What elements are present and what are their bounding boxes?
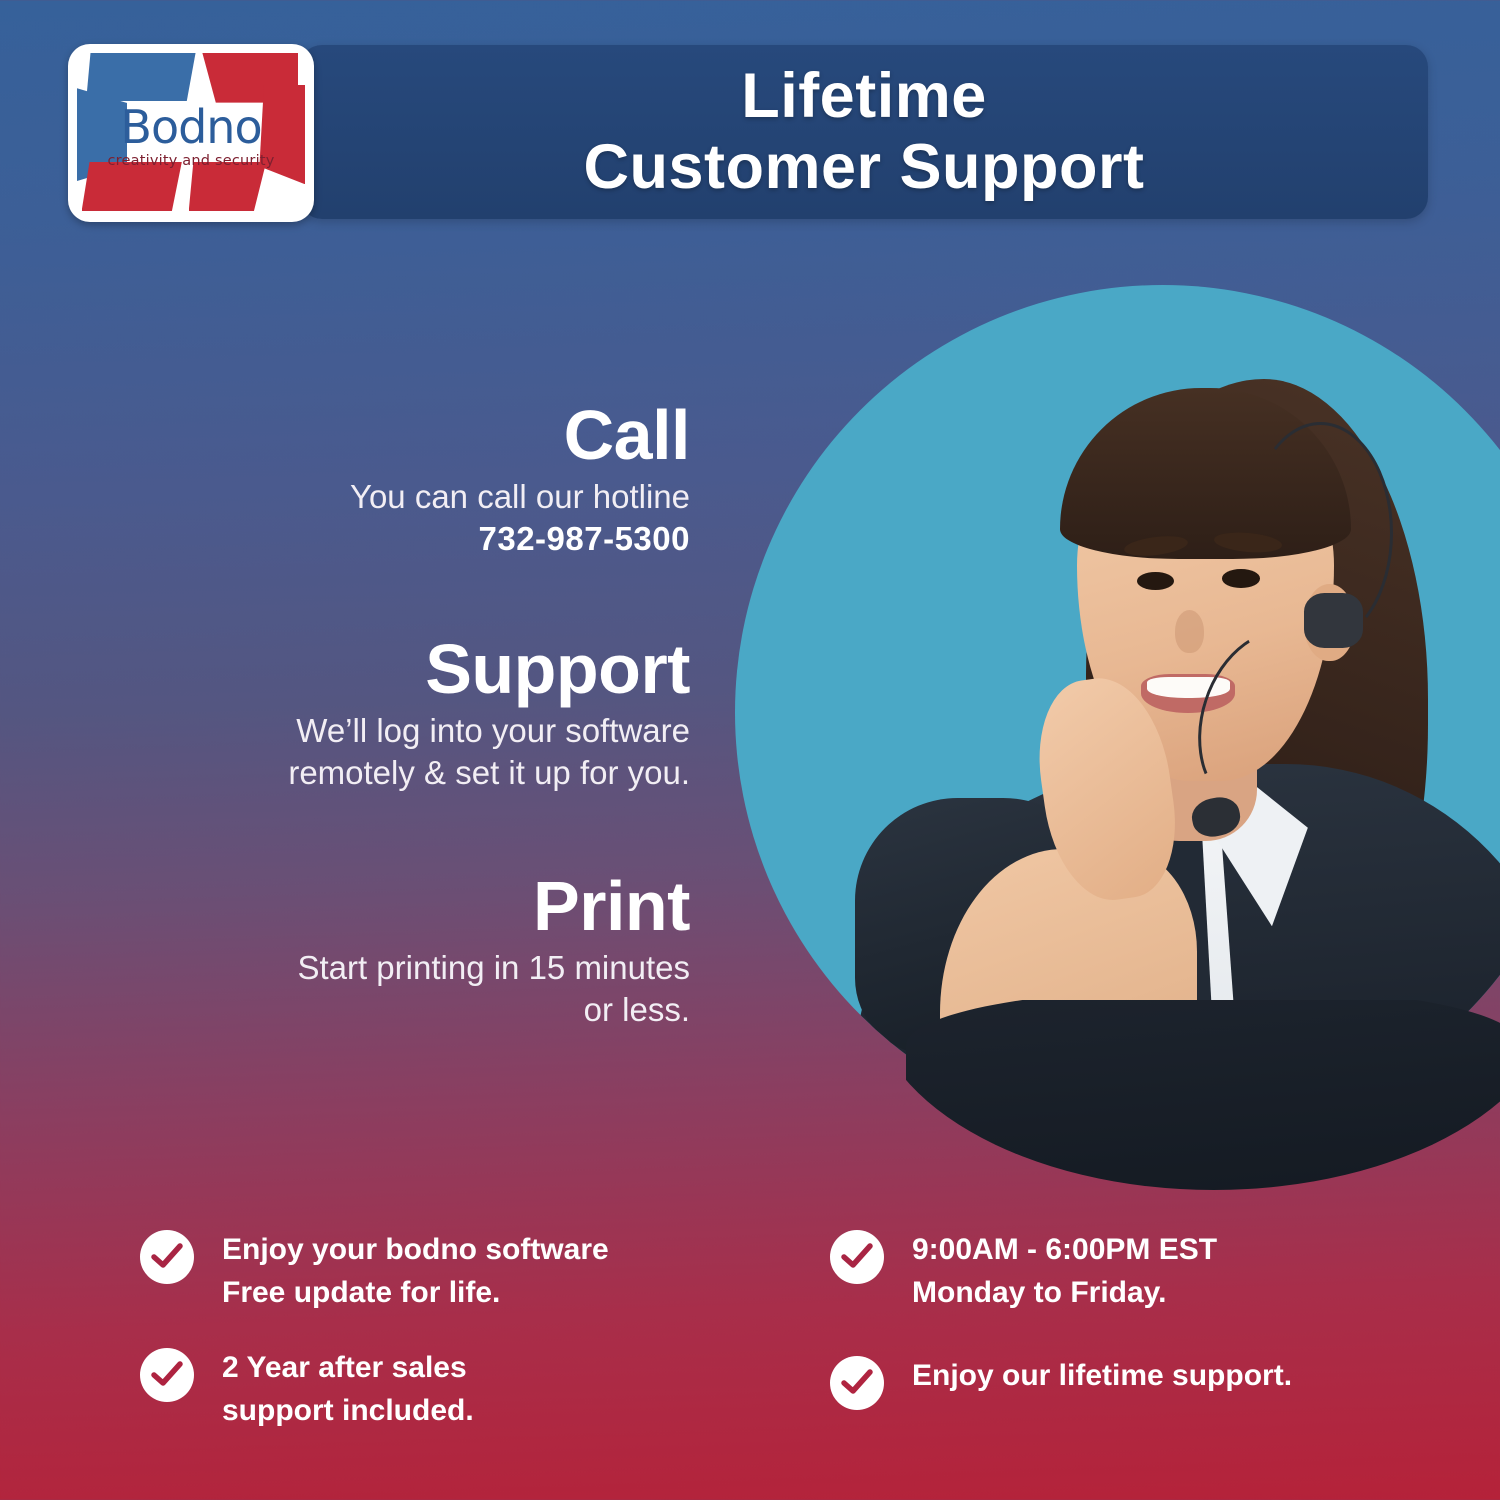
photo-circle-backdrop <box>735 285 1500 1140</box>
logo-wordmark: Bodno <box>77 104 305 150</box>
logo-artwork: Bodno creativity and security <box>77 53 305 213</box>
logo-panel-bottom-middle <box>189 162 267 212</box>
feature-description: Start printing in 15 minutes or less. <box>150 947 690 1031</box>
agent-photo-circle <box>735 285 1500 1140</box>
support-agent-illustration <box>735 285 1500 1140</box>
header-banner: Lifetime Customer Support <box>300 45 1428 219</box>
feature-list: Call You can call our hotline 732-987-53… <box>150 400 690 1031</box>
logo-tagline: creativity and security <box>77 153 305 169</box>
feature-description: You can call our hotline <box>150 476 690 518</box>
logo-panel-top-left <box>86 53 195 101</box>
list-item-label: Enjoy our lifetime support. <box>912 1354 1292 1398</box>
list-item: 2 Year after sales support included. <box>140 1346 710 1432</box>
feature-title: Print <box>150 871 690 941</box>
feature-support: Support We’ll log into your software rem… <box>150 634 690 794</box>
list-item: 9:00AM - 6:00PM EST Monday to Friday. <box>830 1228 1400 1314</box>
check-circle-icon <box>830 1230 884 1284</box>
list-item: Enjoy our lifetime support. <box>830 1354 1400 1410</box>
list-item-label: 2 Year after sales support included. <box>222 1346 474 1432</box>
bodno-logo[interactable]: Bodno creativity and security <box>68 44 314 222</box>
feature-print: Print Start printing in 15 minutes or le… <box>150 871 690 1031</box>
support-phone-number[interactable]: 732-987-5300 <box>150 520 690 558</box>
nose <box>1175 610 1204 653</box>
logo-panel-bottom-left <box>82 162 182 212</box>
checklist-column-right: 9:00AM - 6:00PM EST Monday to Friday. En… <box>830 1228 1400 1464</box>
check-circle-icon <box>140 1230 194 1284</box>
list-item: Enjoy your bodno software Free update fo… <box>140 1228 710 1314</box>
check-circle-icon <box>140 1348 194 1402</box>
list-item-label: 9:00AM - 6:00PM EST Monday to Friday. <box>912 1228 1217 1314</box>
feature-title: Call <box>150 400 690 470</box>
feature-description: We’ll log into your software remotely & … <box>150 710 690 794</box>
check-circle-icon <box>830 1356 884 1410</box>
list-item-label: Enjoy your bodno software Free update fo… <box>222 1228 609 1314</box>
benefits-checklist: Enjoy your bodno software Free update fo… <box>140 1228 1420 1464</box>
feature-title: Support <box>150 634 690 704</box>
checklist-column-left: Enjoy your bodno software Free update fo… <box>140 1228 710 1464</box>
page-title: Lifetime Customer Support <box>583 61 1144 202</box>
feature-call: Call You can call our hotline 732-987-53… <box>150 400 690 558</box>
logo-text-group: Bodno creativity and security <box>77 104 305 169</box>
